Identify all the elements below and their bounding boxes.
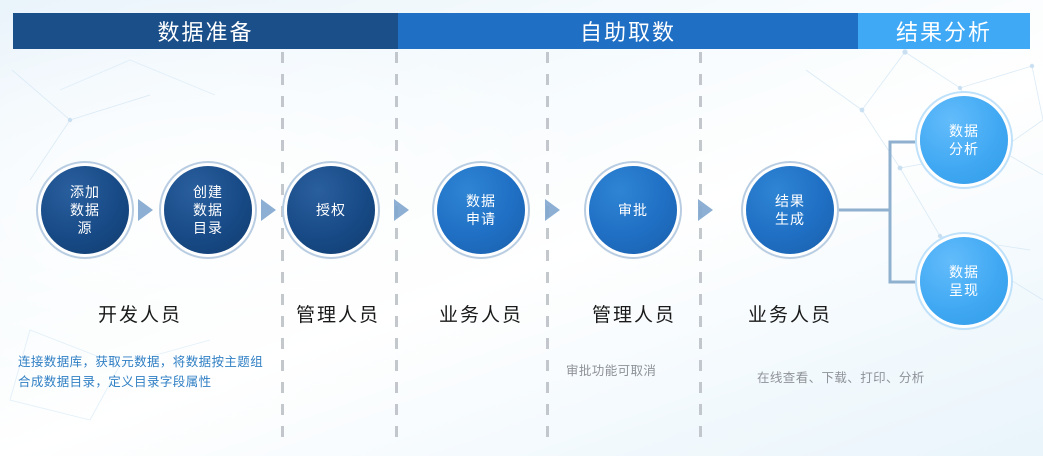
flow-arrow-icon (698, 199, 713, 221)
role-label-business-1: 业务人员 (424, 300, 538, 327)
phase-band-label: 结果分析 (896, 15, 992, 47)
role-text: 管理人员 (296, 305, 380, 326)
role-text: 管理人员 (592, 305, 676, 326)
phase-band-label: 数据准备 (157, 15, 253, 47)
column-divider (546, 52, 549, 440)
role-text: 业务人员 (439, 305, 523, 326)
description-text: 连接数据库，获取元数据，将数据按主题组合成数据目录，定义目录字段属性 (18, 355, 263, 389)
node-label: 数据 申请 (466, 192, 496, 228)
description-result: 在线查看、下载、打印、分析 (757, 368, 1007, 388)
role-label-admin-2: 管理人员 (577, 300, 691, 327)
node-data-analysis[interactable]: 数据 分析 (920, 96, 1008, 184)
column-divider (281, 52, 284, 440)
node-data-presentation[interactable]: 数据 呈现 (920, 237, 1008, 325)
node-label: 添加 数据 源 (70, 183, 100, 237)
node-label: 数据 呈现 (949, 263, 979, 299)
role-label-developer: 开发人员 (40, 300, 240, 327)
column-divider (395, 52, 398, 440)
node-result-generate[interactable]: 结果 生成 (746, 166, 834, 254)
node-label: 授权 (316, 201, 346, 219)
role-text: 业务人员 (748, 305, 832, 326)
node-add-data-source[interactable]: 添加 数据 源 (41, 166, 129, 254)
phase-band-data-preparation: 数据准备 (13, 13, 398, 49)
node-authorize[interactable]: 授权 (287, 166, 375, 254)
role-text: 开发人员 (98, 305, 182, 326)
flow-arrow-icon (394, 199, 409, 221)
description-data-preparation: 连接数据库，获取元数据，将数据按主题组合成数据目录，定义目录字段属性 (18, 352, 266, 392)
flow-arrow-icon (545, 199, 560, 221)
node-data-request[interactable]: 数据 申请 (437, 166, 525, 254)
node-approval[interactable]: 审批 (589, 166, 677, 254)
role-label-admin-1: 管理人员 (288, 300, 388, 327)
column-divider (699, 52, 702, 440)
flow-arrow-icon (138, 199, 153, 221)
description-approval: 审批功能可取消 (566, 361, 706, 381)
phase-band-label: 自助取数 (580, 15, 676, 47)
role-label-business-2: 业务人员 (733, 300, 847, 327)
flow-diagram-canvas: 数据准备 自助取数 结果分析 添加 数据 源 创建 数据 目录 (0, 0, 1043, 456)
node-create-catalog[interactable]: 创建 数据 目录 (164, 166, 252, 254)
node-label: 创建 数据 目录 (193, 183, 223, 237)
node-label: 审批 (618, 201, 648, 219)
description-text: 审批功能可取消 (566, 364, 656, 378)
phase-band-self-service: 自助取数 (398, 13, 858, 49)
phase-band-result-analysis: 结果分析 (858, 13, 1030, 49)
node-label: 结果 生成 (775, 192, 805, 228)
flow-arrow-icon (261, 199, 276, 221)
node-label: 数据 分析 (949, 122, 979, 158)
description-text: 在线查看、下载、打印、分析 (757, 371, 925, 385)
